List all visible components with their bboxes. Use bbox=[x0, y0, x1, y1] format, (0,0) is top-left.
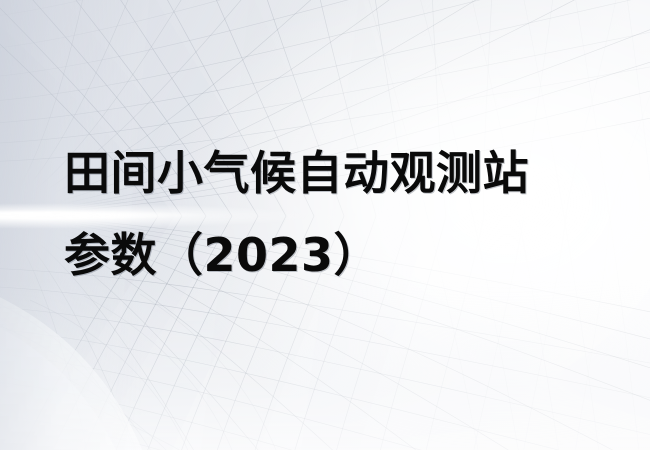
slide-title-line-2: 参数（2023） bbox=[64, 214, 604, 296]
mesh-arcs-lower-left bbox=[0, 294, 280, 450]
slide-title-line-1: 田间小气候自动观测站 bbox=[64, 132, 604, 214]
slide-title: 田间小气候自动观测站 参数（2023） bbox=[64, 132, 604, 296]
background-lobe-lower-left bbox=[0, 288, 150, 450]
title-slide: 田间小气候自动观测站 参数（2023） bbox=[0, 0, 650, 450]
